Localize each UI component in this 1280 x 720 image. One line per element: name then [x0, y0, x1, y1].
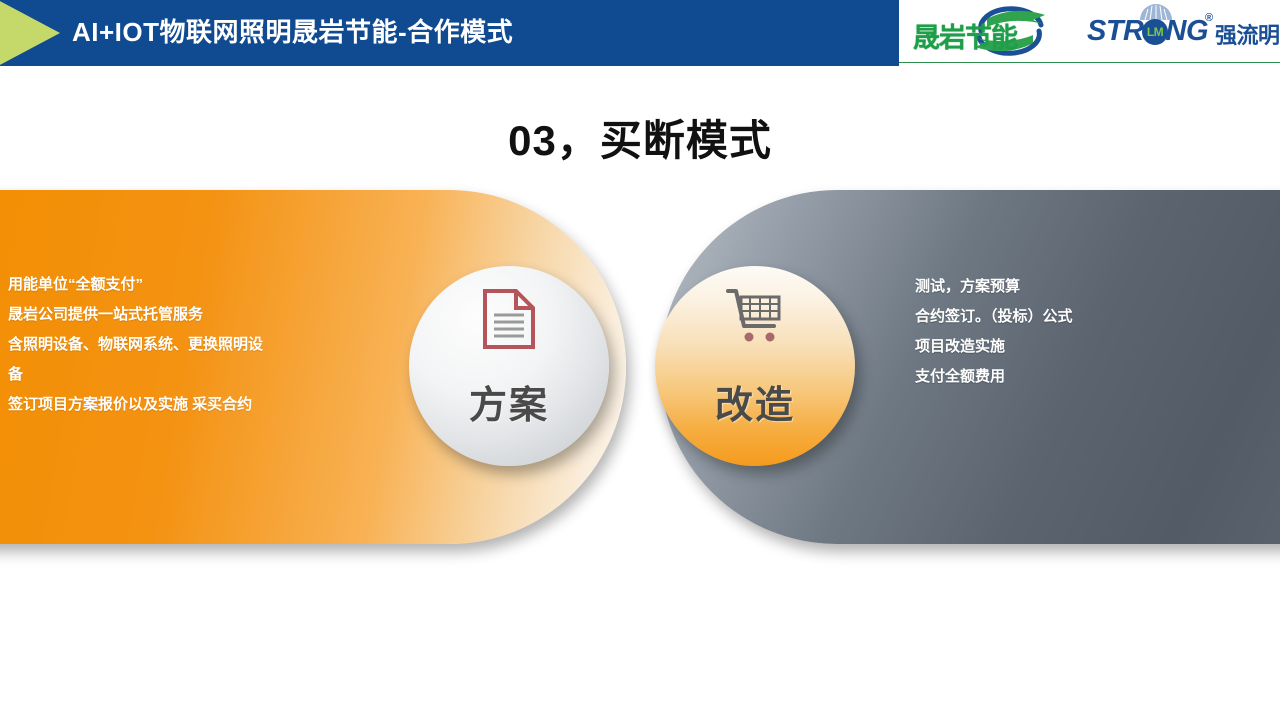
shopping-cart-icon	[655, 288, 855, 351]
left-panel-line: 备	[8, 360, 348, 390]
left-panel-line: 含照明设备、物联网系统、更换照明设	[8, 330, 348, 360]
right-panel-line: 支付全额费用	[915, 362, 1245, 392]
header-title: AI+IOT物联网照明晟岩节能-合作模式	[72, 12, 513, 49]
right-panel-line: 合约签订。（投标）公式	[915, 302, 1245, 332]
logo-shengyan: 晟岩节能	[909, 4, 1087, 59]
chevron-right-icon	[0, 0, 60, 66]
logo-strong: STRONG LM ® 强流明照明	[1087, 2, 1279, 60]
logo-company-name: 晟岩节能	[913, 16, 1017, 55]
brand-logo-box: 晟岩节能 STRONG LM ® 强流明照明	[899, 0, 1280, 63]
circle-build[interactable]: 改造	[655, 266, 855, 466]
page-title: 03，买断模式	[0, 107, 1280, 168]
document-icon	[409, 288, 609, 355]
circle-plan[interactable]: 方案	[409, 266, 609, 466]
right-panel-line: 项目改造实施	[915, 332, 1245, 362]
logo-o-inner-text: LM	[1144, 25, 1166, 39]
circle-build-label: 改造	[655, 374, 855, 429]
logo-brand-cn: 强流明照明	[1215, 18, 1280, 50]
left-panel-line: 晟岩公司提供一站式托管服务	[8, 300, 348, 330]
slide-canvas: AI+IOT物联网照明晟岩节能-合作模式 晟岩节能	[0, 0, 1280, 720]
header-bar: AI+IOT物联网照明晟岩节能-合作模式	[0, 0, 899, 66]
left-panel-text: 用能单位“全额支付” 晟岩公司提供一站式托管服务 含照明设备、物联网系统、更换照…	[8, 270, 348, 420]
left-panel-line: 签订项目方案报价以及实施 采买合约	[8, 390, 348, 420]
circle-plan-label: 方案	[409, 374, 609, 429]
registered-mark: ®	[1205, 12, 1213, 24]
right-panel-text: 测试，方案预算 合约签订。（投标）公式 项目改造实施 支付全额费用	[915, 272, 1245, 392]
left-panel-line: 用能单位“全额支付”	[8, 270, 348, 300]
right-panel-line: 测试，方案预算	[915, 272, 1245, 302]
